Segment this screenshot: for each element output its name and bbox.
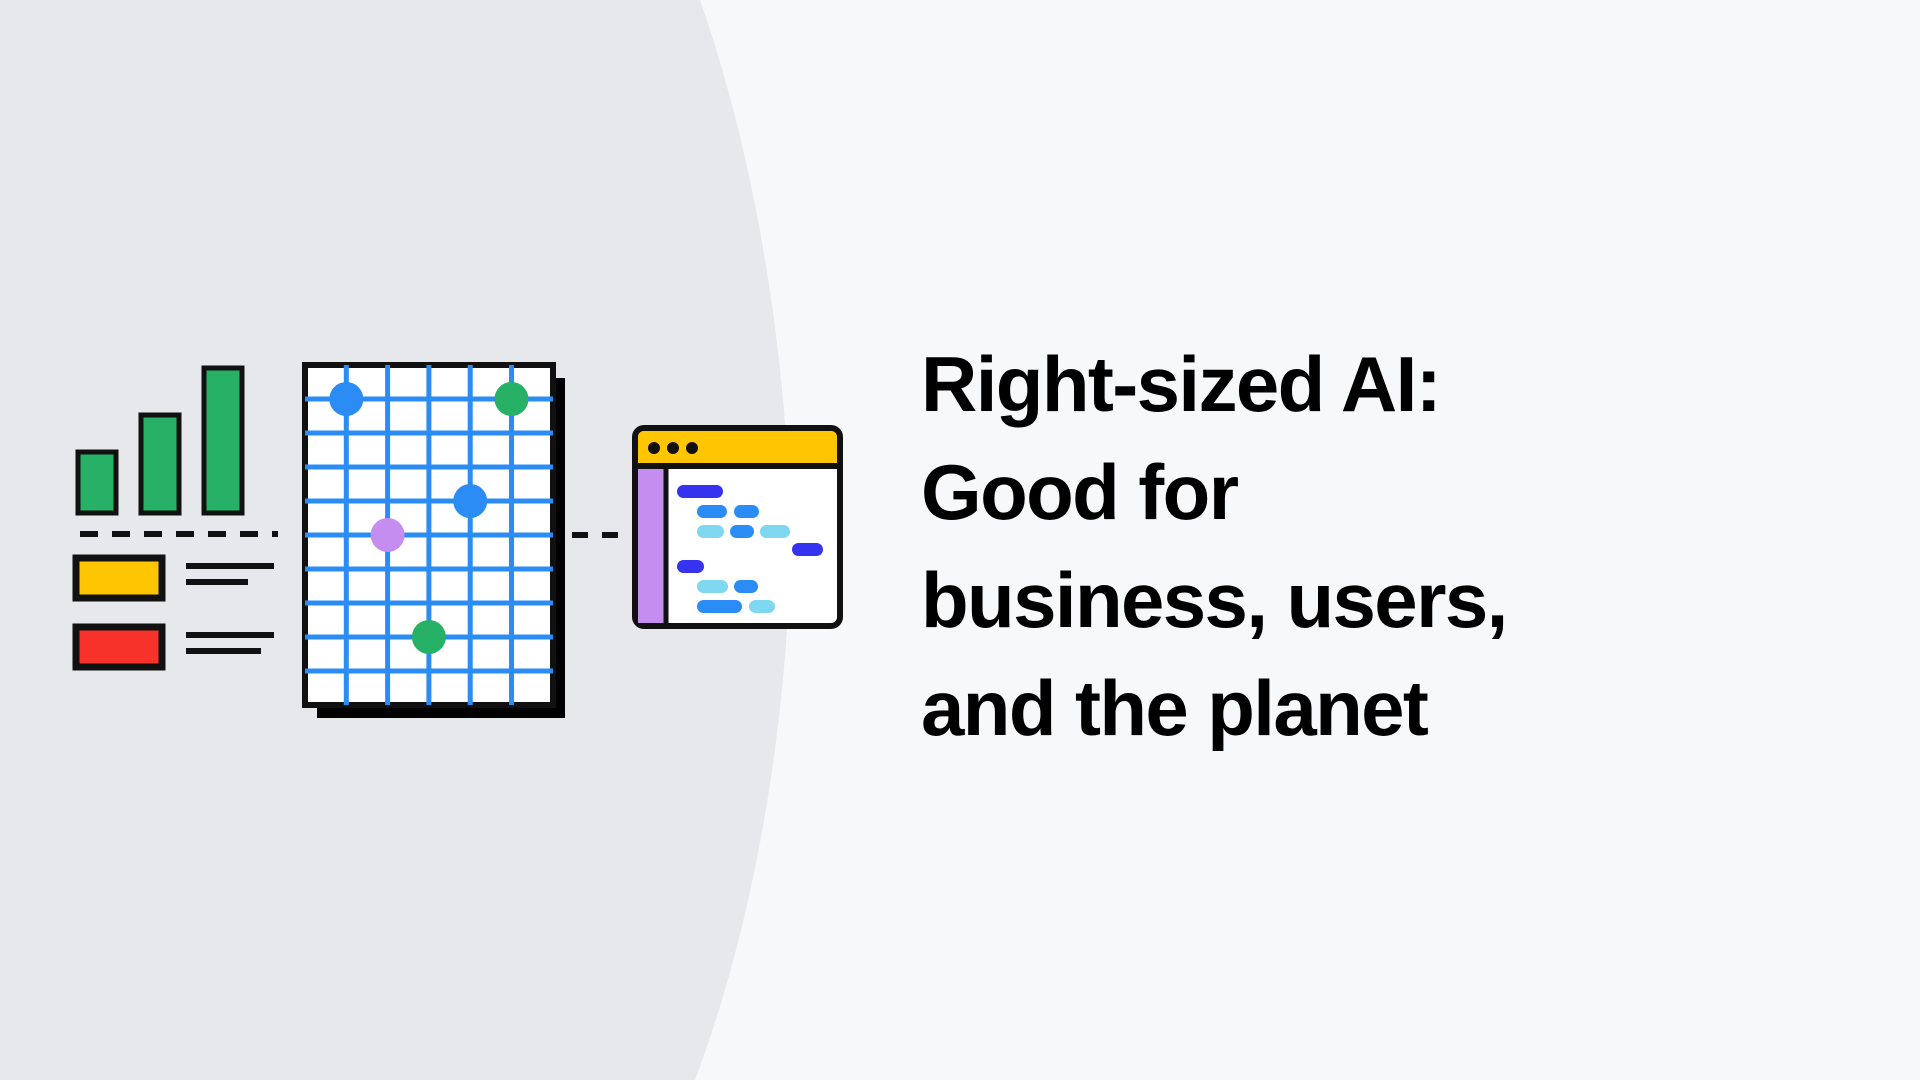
page-title: Right-sized AI: Good for business, users… — [921, 330, 1821, 762]
point-green-2 — [412, 620, 446, 654]
code-line-2-token-1 — [697, 505, 727, 518]
point-green-1 — [495, 382, 529, 416]
legend-row-red — [76, 627, 274, 667]
bar-3 — [204, 368, 242, 513]
point-blue-2 — [453, 484, 487, 518]
code-window-mock — [635, 428, 840, 626]
page-title-line-2: Good for — [921, 438, 1821, 546]
page-title-line-1: Right-sized AI: — [921, 330, 1821, 438]
legend-row-yellow — [76, 558, 274, 598]
page-title-line-4: and the planet — [921, 654, 1821, 762]
code-line-5-token-1 — [677, 560, 704, 573]
window-dot-1-icon — [648, 442, 660, 454]
bar-2 — [141, 415, 179, 513]
window-dot-2-icon — [667, 442, 679, 454]
code-line-1-token-1 — [677, 485, 723, 498]
code-window-sidebar — [638, 469, 664, 623]
legend-swatch-yellow — [76, 558, 162, 598]
code-line-2-token-2 — [734, 505, 759, 518]
bar-chart — [78, 368, 242, 513]
code-line-6-token-1 — [697, 580, 728, 593]
hero-banner: Right-sized AI: Good for business, users… — [0, 0, 1920, 1080]
page-title-line-3: business, users, — [921, 546, 1821, 654]
code-line-7-token-1 — [697, 600, 742, 613]
code-line-7-token-2 — [749, 600, 775, 613]
code-line-3-token-3 — [760, 525, 790, 538]
point-purple-1 — [371, 518, 405, 552]
window-dot-3-icon — [686, 442, 698, 454]
code-line-3-token-2 — [730, 525, 754, 538]
code-line-3-token-1 — [697, 525, 724, 538]
code-line-4-token-1 — [792, 543, 823, 556]
bar-1 — [78, 452, 116, 513]
code-line-6-token-2 — [734, 580, 758, 593]
point-blue-1 — [329, 382, 363, 416]
scatter-grid-card — [305, 365, 565, 718]
legend-swatch-red — [76, 627, 162, 667]
illustration-group — [0, 0, 900, 1080]
